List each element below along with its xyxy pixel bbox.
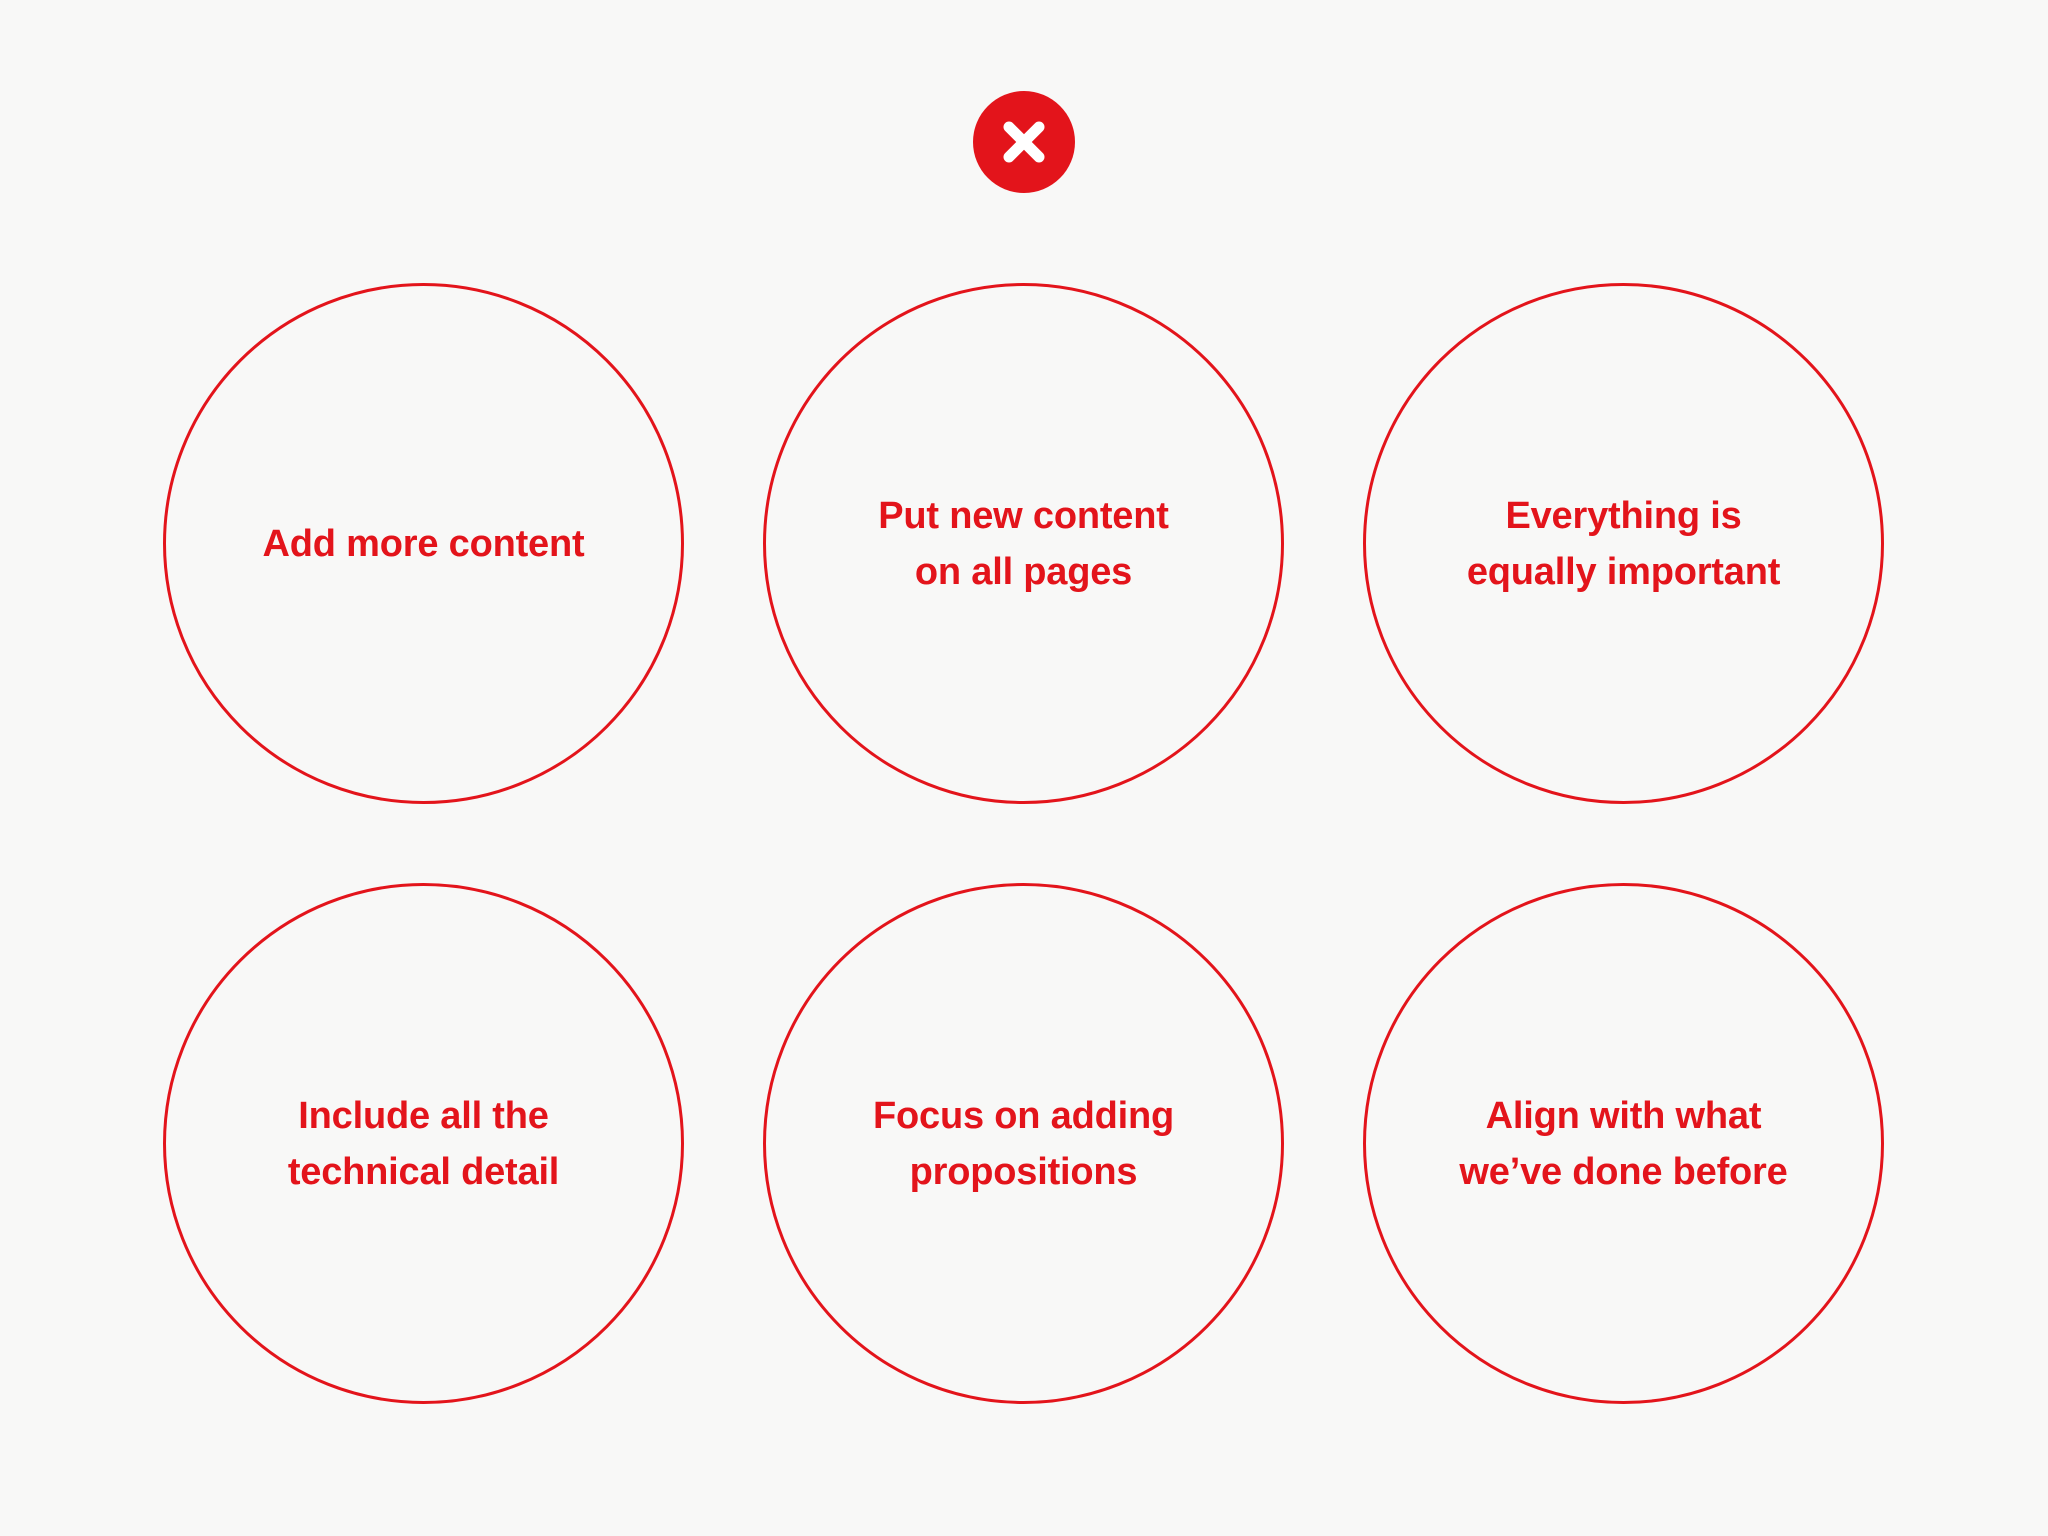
bubble-label: Put new content on all pages [809, 488, 1239, 600]
bubble-label: Add more content [209, 516, 639, 572]
bubble-include-technical-detail[interactable]: Include all the technical detail [163, 883, 684, 1404]
bubble-label: Focus on adding propositions [809, 1088, 1239, 1200]
bubble-label: Include all the technical detail [209, 1088, 639, 1200]
bubble-label: Align with what we’ve done before [1409, 1088, 1839, 1200]
bubble-label: Everything is equally important [1409, 488, 1839, 600]
bubble-put-new-content[interactable]: Put new content on all pages [763, 283, 1284, 804]
bubble-grid: Add more content Put new content on all … [0, 0, 2048, 1536]
bubble-focus-propositions[interactable]: Focus on adding propositions [763, 883, 1284, 1404]
bubble-add-more-content[interactable]: Add more content [163, 283, 684, 804]
bubble-align-done-before[interactable]: Align with what we’ve done before [1363, 883, 1884, 1404]
bubble-everything-important[interactable]: Everything is equally important [1363, 283, 1884, 804]
slide-canvas: Add more content Put new content on all … [0, 0, 2048, 1536]
